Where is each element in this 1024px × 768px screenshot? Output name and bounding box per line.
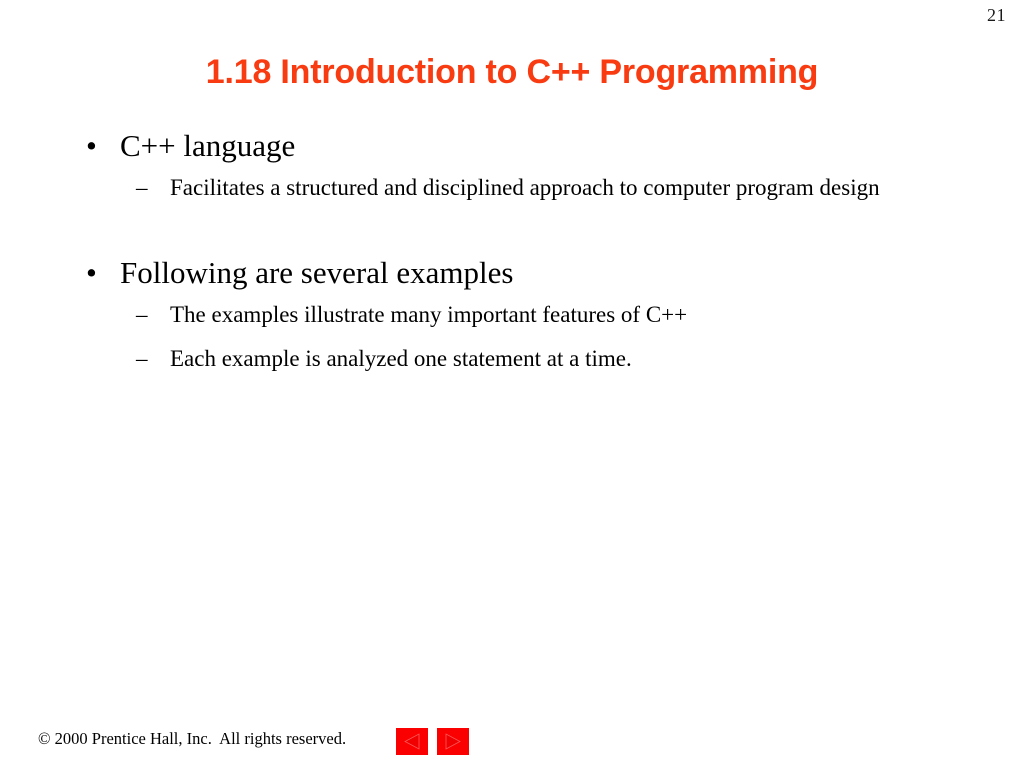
bullet-text: Each example is analyzed one statement a… [170, 346, 632, 371]
previous-slide-button[interactable] [396, 728, 428, 755]
slide-navigation [396, 728, 469, 755]
bullet-text: Facilitates a structured and disciplined… [170, 175, 880, 200]
bullet-group-2: • Following are several examples – The e… [0, 253, 1024, 375]
next-slide-button[interactable] [437, 728, 469, 755]
bullet-item-level1: • Following are several examples [0, 253, 1024, 293]
bullet-dash-icon: – [136, 300, 148, 331]
bullet-text: C++ language [120, 128, 295, 163]
bullet-dash-icon: – [136, 344, 148, 375]
slide-footer: © 2000 Prentice Hall, Inc. All rights re… [0, 720, 1024, 768]
slide-body: • C++ language – Facilitates a structure… [0, 126, 1024, 375]
bullet-dot-icon: • [86, 253, 97, 293]
slide-canvas: 21 1.18 Introduction to C++ Programming … [0, 0, 1024, 768]
bullet-group-1: • C++ language – Facilitates a structure… [0, 126, 1024, 204]
bullet-item-level1: • C++ language [0, 126, 1024, 166]
bullet-text: The examples illustrate many important f… [170, 302, 687, 327]
page-title: 1.18 Introduction to C++ Programming [0, 51, 1024, 93]
bullet-dot-icon: • [86, 126, 97, 166]
bullet-item-level2: – Facilitates a structured and disciplin… [0, 173, 1024, 204]
page-number: 21 [987, 4, 1006, 26]
bullet-item-level2: – Each example is analyzed one statement… [0, 344, 1024, 375]
bullet-item-level2: – The examples illustrate many important… [0, 300, 1024, 331]
triangle-left-icon [403, 733, 421, 750]
bullet-text: Following are several examples [120, 255, 513, 290]
triangle-right-icon [444, 733, 462, 750]
bullet-dash-icon: – [136, 173, 148, 204]
copyright-notice: © 2000 Prentice Hall, Inc. All rights re… [38, 728, 346, 749]
section-spacer [0, 204, 1024, 253]
